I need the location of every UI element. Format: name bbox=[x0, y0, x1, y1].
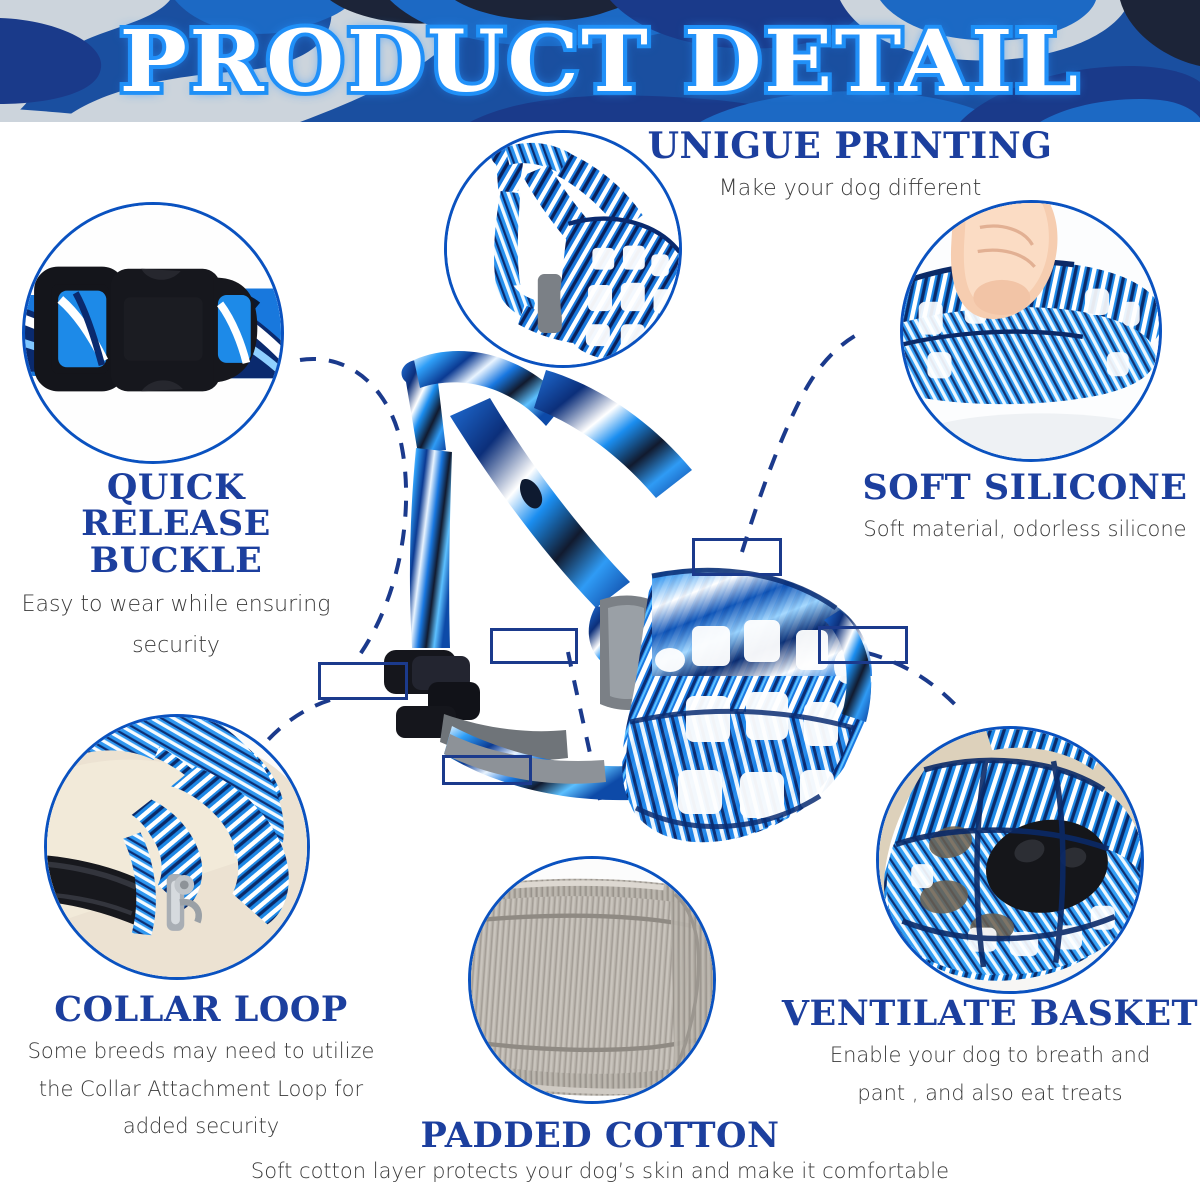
padded-cotton-title: PADDED COTTON bbox=[270, 1118, 930, 1154]
ventilate-basket-photo bbox=[876, 726, 1144, 994]
feature-text-ventilate-basket: VENTILATE BASKET Enable your dog to brea… bbox=[778, 996, 1200, 1107]
collar-loop-photo bbox=[44, 714, 310, 980]
feature-text-quick-release-buckle: QUICK RELEASE BUCKLE Easy to wear while … bbox=[0, 470, 352, 660]
silicone-photo-art bbox=[900, 200, 1162, 462]
feature-text-unique-printing: UNIGUE PRINTING Make your dog different bbox=[640, 128, 1060, 204]
quick-release-buckle-subtitle-line-2: security bbox=[0, 632, 352, 661]
padded-cotton-highlight-box bbox=[490, 628, 578, 664]
ventilate-photo-art bbox=[876, 726, 1144, 994]
padded-cotton-subtitle: Soft cotton layer protects your dog’s sk… bbox=[120, 1158, 1080, 1185]
unique-printing-title: UNIGUE PRINTING bbox=[640, 128, 1060, 165]
buckle-highlight-box bbox=[318, 662, 408, 700]
silicone-highlight-box bbox=[818, 626, 908, 664]
ventilate-basket-subtitle-line-2: pant , and also eat treats bbox=[778, 1080, 1200, 1107]
hero-product-image bbox=[300, 330, 880, 890]
padded-cotton-photo bbox=[468, 856, 716, 1104]
unique-printing-subtitle: Make your dog different bbox=[640, 175, 1060, 204]
quick-release-buckle-photo bbox=[22, 202, 284, 464]
quick-release-buckle-title-line-2: RELEASE BUCKLE bbox=[0, 506, 352, 579]
muzzle-illustration bbox=[300, 330, 880, 890]
page-title: PRODUCT DETAIL bbox=[0, 0, 1200, 122]
feature-text-padded-cotton: PADDED COTTON bbox=[270, 1118, 930, 1154]
cotton-photo-art bbox=[468, 856, 716, 1104]
printing-highlight-box bbox=[692, 538, 782, 576]
soft-silicone-subtitle: Soft material, odorless silicone bbox=[845, 516, 1200, 543]
feature-text-soft-silicone: SOFT SILICONE Soft material, odorless si… bbox=[845, 470, 1200, 544]
ventilate-basket-title: VENTILATE BASKET bbox=[778, 996, 1200, 1032]
collar-loop-title: COLLAR LOOP bbox=[6, 992, 396, 1028]
buckle-photo-art bbox=[22, 202, 284, 464]
buckle-body bbox=[42, 268, 256, 391]
collar-loop-highlight-box bbox=[442, 755, 532, 785]
header-banner: PRODUCT DETAIL bbox=[0, 0, 1200, 122]
soft-silicone-photo bbox=[900, 200, 1162, 462]
collar-loop-subtitle-line-1: Some breeds may need to utilize bbox=[6, 1038, 396, 1065]
padded-cotton-subtitle-wrap: Soft cotton layer protects your dog’s sk… bbox=[120, 1158, 1080, 1185]
quick-release-buckle-title-line-1: QUICK bbox=[0, 470, 352, 506]
ventilate-basket-subtitle-line-1: Enable your dog to breath and bbox=[778, 1042, 1200, 1069]
quick-release-buckle-subtitle-line-1: Easy to wear while ensuring bbox=[0, 591, 352, 620]
soft-silicone-title: SOFT SILICONE bbox=[845, 470, 1200, 506]
collar-photo-art bbox=[44, 714, 310, 980]
collar-loop-subtitle-line-2: the Collar Attachment Loop for bbox=[6, 1076, 396, 1103]
